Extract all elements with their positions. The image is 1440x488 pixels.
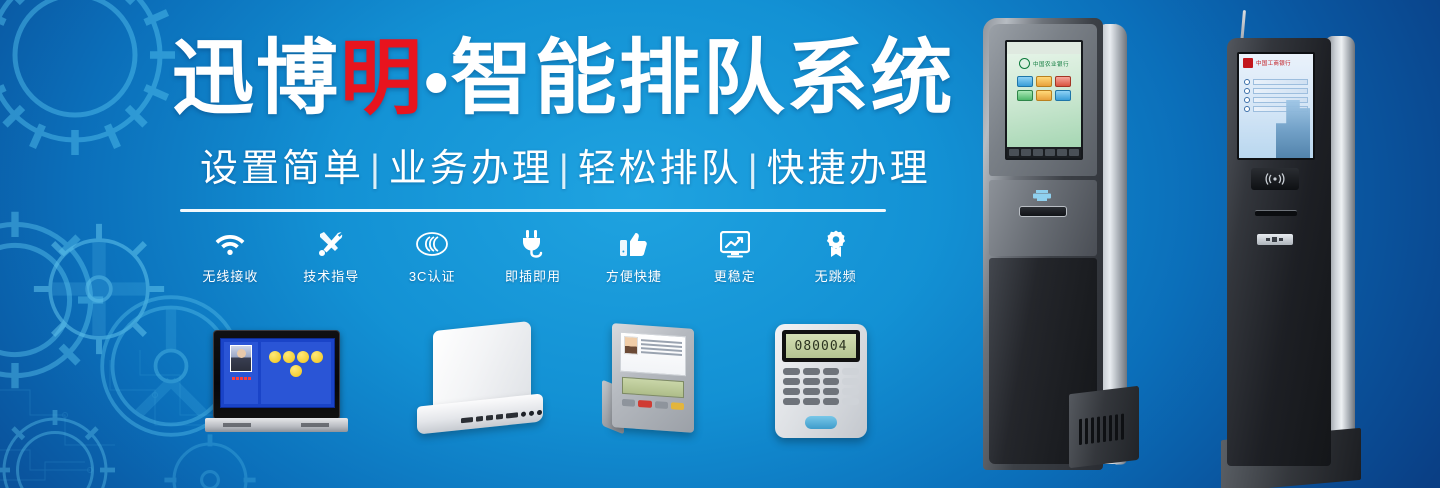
subtitle-separator: | <box>364 148 389 190</box>
screen-title-bar <box>1007 42 1081 54</box>
monitor-screen <box>220 338 335 408</box>
bank-logo-mark <box>1019 58 1030 69</box>
screen-bottom-buttons[interactable] <box>1007 147 1081 158</box>
bank-name: 中国工商银行 <box>1256 59 1291 67</box>
keypad-buttons[interactable] <box>783 368 859 405</box>
bank-logo-mark <box>1243 58 1253 68</box>
feature-item-wireless: 无线接收 <box>180 228 281 285</box>
subtitle-item-0: 设置简单 <box>200 148 364 190</box>
keypad-lcd-value: 080004 <box>786 334 856 358</box>
ticket-slot <box>1255 210 1297 216</box>
bank-logo: 中国农业银行 <box>1007 54 1081 71</box>
kiosk-touch-screen[interactable]: 中国农业银行 <box>1005 40 1083 160</box>
feature-item-no-frequency-hopping: 无跳频 <box>785 228 886 285</box>
subtitle-item-1: 业务办理 <box>389 148 553 190</box>
subtitle-item-2: 轻松排队 <box>578 148 742 190</box>
feature-label: 方便快捷 <box>606 266 662 285</box>
page-title: 迅博明•智能排队系统 <box>172 38 955 120</box>
brand-badge <box>1257 234 1293 245</box>
evaluator-buttons <box>622 399 684 410</box>
kiosk-main-column: 中国工商银行 <box>1227 38 1331 466</box>
keypad-call-button[interactable] <box>805 416 837 429</box>
staff-detail-lines <box>641 337 682 372</box>
evaluator-body <box>612 323 694 433</box>
service-tile[interactable] <box>1036 76 1052 87</box>
kiosk-dispenser-panel <box>989 180 1097 256</box>
promo-banner: 迅博明•智能排队系统 设置简单|业务办理|轻松排队|快捷办理 无线接收 <box>0 0 1440 488</box>
staff-photo <box>624 336 638 355</box>
brand-logo-icon <box>1265 236 1285 243</box>
title-highlight: 明 <box>340 33 424 124</box>
service-tile[interactable] <box>1055 76 1071 87</box>
rating-stars <box>232 377 251 380</box>
title-bullet: • <box>424 43 451 121</box>
service-tile[interactable] <box>1017 90 1033 101</box>
subtitle: 设置简单|业务办理|轻松排队|快捷办理 <box>200 148 931 192</box>
feature-label: 技术指导 <box>303 266 359 285</box>
nfc-icon <box>1264 173 1286 185</box>
service-tile[interactable] <box>1055 90 1071 101</box>
thumbs-up-icon <box>620 228 648 260</box>
product-desktop-evaluator <box>600 324 705 442</box>
service-tile[interactable] <box>1036 90 1052 101</box>
feature-item-ccc-certification: 3C认证 <box>382 228 483 285</box>
horizontal-divider <box>180 209 886 212</box>
monitor-bezel <box>213 330 340 420</box>
staff-photo <box>230 345 252 372</box>
feature-item-technical-guidance: 技术指导 <box>281 228 382 285</box>
kiosk-screen-housing: 中国农业银行 <box>989 24 1097 176</box>
service-tile-grid[interactable] <box>1013 76 1075 101</box>
plug-icon <box>520 228 546 260</box>
feature-item-plug-and-play: 即插即用 <box>483 228 584 285</box>
bank-name: 中国农业银行 <box>1033 60 1069 68</box>
title-part-2: 智能排队系统 <box>451 33 955 124</box>
product-caller-keypad: 080004 <box>775 324 867 442</box>
service-tile[interactable] <box>1017 76 1033 87</box>
evaluator-lcd-display <box>622 377 684 398</box>
queue-kiosk-abc: 中国农业银行 <box>965 18 1165 488</box>
ventilation-grille <box>1079 414 1124 446</box>
emoji-rating-grid <box>264 351 328 377</box>
monitor-chart-icon <box>720 228 750 260</box>
menu-item[interactable] <box>1244 88 1308 94</box>
feature-item-convenient: 方便快捷 <box>583 228 684 285</box>
wifi-icon <box>215 228 245 260</box>
feature-label: 即插即用 <box>505 266 561 285</box>
feature-label: 无跳频 <box>815 266 857 285</box>
subtitle-separator: | <box>553 148 578 190</box>
product-evaluation-monitor <box>205 330 348 440</box>
keypad-display-bezel: 080004 <box>782 330 860 362</box>
subtitle-item-3: 快捷办理 <box>767 148 931 190</box>
kiosk-touch-screen[interactable]: 中国工商银行 <box>1237 52 1315 160</box>
subtitle-separator: | <box>742 148 767 190</box>
feature-label: 无线接收 <box>202 266 258 285</box>
feature-label: 更稳定 <box>714 266 756 285</box>
kiosk-vented-base <box>1069 386 1139 469</box>
staff-info-panel <box>224 342 258 404</box>
monitor-stand <box>205 418 348 432</box>
service-menu[interactable] <box>1239 75 1313 112</box>
bank-logo: 中国工商银行 <box>1239 54 1313 70</box>
product-showcase: 080004 <box>0 318 940 458</box>
queue-kiosk-icbc: 中国工商银行 <box>1215 22 1390 488</box>
feature-item-more-stable: 更稳定 <box>684 228 785 285</box>
feature-label: 3C认证 <box>409 266 456 285</box>
ticket-printer-slot <box>1019 206 1067 217</box>
keypad-body: 080004 <box>775 324 867 438</box>
ccc-certification-icon <box>415 228 449 260</box>
menu-item[interactable] <box>1244 79 1308 85</box>
rating-panel <box>261 342 331 404</box>
award-ribbon-icon <box>824 228 848 260</box>
rfid-card-reader[interactable] <box>1251 168 1299 190</box>
title-part-1: 迅博 <box>172 33 340 124</box>
feature-list: 无线接收 技术指导 3C认证 <box>180 228 886 290</box>
tools-icon <box>317 228 345 260</box>
staff-id-card <box>620 332 686 377</box>
product-host-controller-box <box>415 326 545 438</box>
printer-icon <box>1033 190 1051 201</box>
